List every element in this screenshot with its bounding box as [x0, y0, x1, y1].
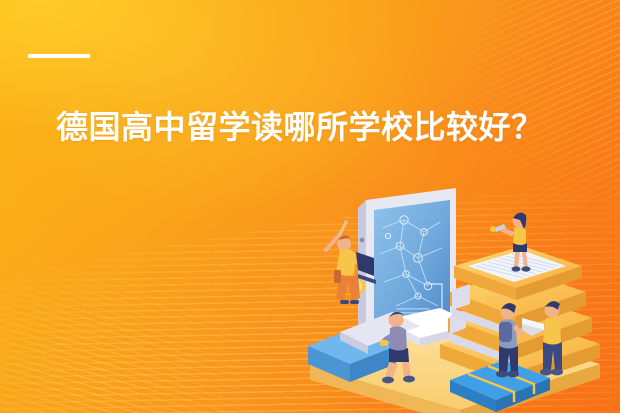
promo-banner: 德国高中留学读哪所学校比较好？ [0, 0, 620, 413]
book-stack-tall [440, 246, 600, 386]
background-flourish-bottom-left [0, 215, 275, 413]
page-title: 德国高中留学读哪所学校比较好？ [56, 108, 544, 146]
accent-rule [28, 54, 90, 58]
education-books-isometric-illustration [300, 188, 620, 413]
